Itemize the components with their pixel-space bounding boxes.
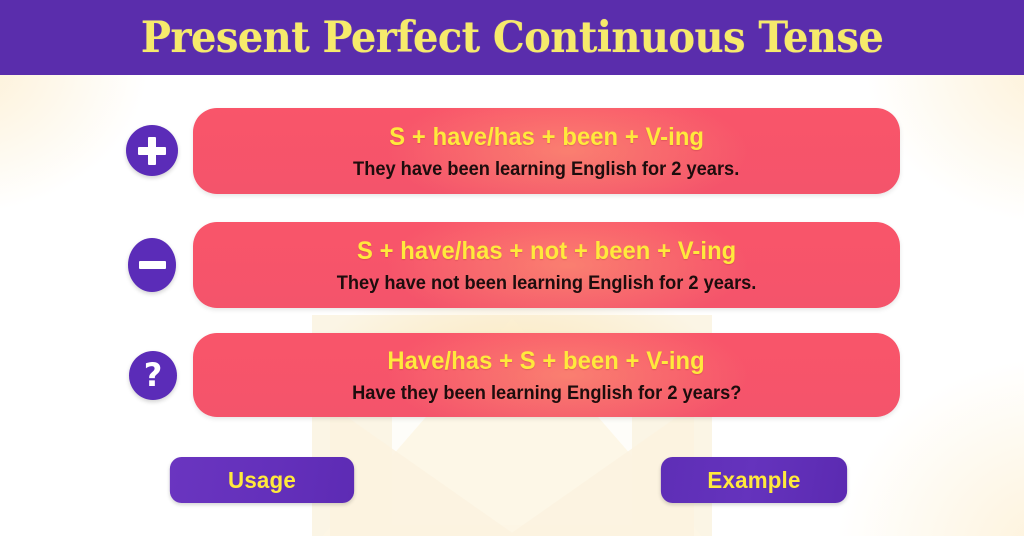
example-button[interactable]: Example xyxy=(661,457,847,503)
header-bar: Present Perfect Continuous Tense xyxy=(0,0,1024,75)
minus-icon xyxy=(128,238,176,292)
negative-card: S + have/has + not + been + V-ing They h… xyxy=(193,222,900,308)
affirmative-example: They have been learning English for 2 ye… xyxy=(353,159,739,182)
plus-glyph xyxy=(138,137,166,165)
interrogative-card: Have/has + S + been + V-ing Have they be… xyxy=(193,333,900,417)
minus-glyph xyxy=(139,261,166,269)
interrogative-formula: Have/has + S + been + V-ing xyxy=(388,348,705,376)
interrogative-example: Have they been learning English for 2 ye… xyxy=(352,383,741,406)
tense-forms-list: S + have/has + been + V-ing They have be… xyxy=(0,0,1024,536)
affirmative-formula: S + have/has + been + V-ing xyxy=(389,124,704,152)
usage-button[interactable]: Usage xyxy=(170,457,354,503)
affirmative-card: S + have/has + been + V-ing They have be… xyxy=(193,108,900,194)
question-glyph: ? xyxy=(144,359,163,391)
negative-formula: S + have/has + not + been + V-ing xyxy=(357,238,736,266)
negative-example: They have not been learning English for … xyxy=(337,273,757,296)
page-title: Present Perfect Continuous Tense xyxy=(141,13,883,63)
plus-icon xyxy=(126,125,178,176)
question-mark-icon: ? xyxy=(129,351,177,400)
